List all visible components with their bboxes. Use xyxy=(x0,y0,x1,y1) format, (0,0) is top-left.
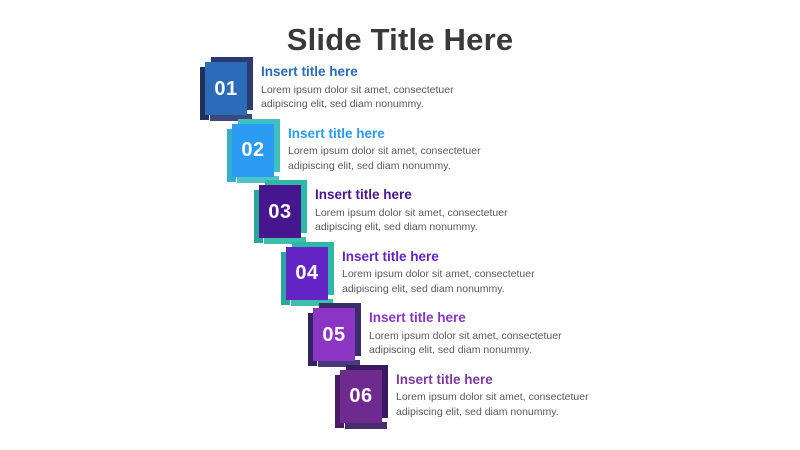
step-number-label: 01 xyxy=(214,79,237,99)
step-title: Insert title here xyxy=(342,249,535,265)
step-number-box-01: 01 xyxy=(205,62,247,115)
step-box-front-face: 03 xyxy=(259,185,301,238)
step-item-02[interactable]: 02Insert title hereLorem ipsum dolor sit… xyxy=(232,124,481,177)
step-number-box-05: 05 xyxy=(313,308,355,361)
step-item-05[interactable]: 05Insert title hereLorem ipsum dolor sit… xyxy=(313,308,562,361)
step-text-block: Insert title hereLorem ipsum dolor sit a… xyxy=(315,185,508,235)
step-body-text: Lorem ipsum dolor sit amet, consectetuer… xyxy=(288,144,481,174)
step-box-front-face: 06 xyxy=(340,370,382,423)
step-number-box-03: 03 xyxy=(259,185,301,238)
step-item-03[interactable]: 03Insert title hereLorem ipsum dolor sit… xyxy=(259,185,508,238)
step-item-06[interactable]: 06Insert title hereLorem ipsum dolor sit… xyxy=(340,370,589,423)
step-number-label: 03 xyxy=(268,202,291,222)
step-body-text: Lorem ipsum dolor sit amet, consectetuer… xyxy=(369,329,562,359)
step-title: Insert title here xyxy=(261,64,454,80)
step-text-block: Insert title hereLorem ipsum dolor sit a… xyxy=(288,124,481,174)
step-body-text: Lorem ipsum dolor sit amet, consectetuer… xyxy=(315,206,508,236)
step-number-label: 02 xyxy=(241,140,264,160)
step-title: Insert title here xyxy=(315,187,508,203)
step-text-block: Insert title hereLorem ipsum dolor sit a… xyxy=(261,62,454,112)
step-title: Insert title here xyxy=(396,372,589,388)
step-title: Insert title here xyxy=(369,310,562,326)
step-body-text: Lorem ipsum dolor sit amet, consectetuer… xyxy=(396,390,589,420)
step-box-bottom-shadow xyxy=(345,422,387,429)
step-number-box-04: 04 xyxy=(286,247,328,300)
step-box-front-face: 02 xyxy=(232,124,274,177)
step-box-front-face: 01 xyxy=(205,62,247,115)
step-number-label: 05 xyxy=(322,325,345,345)
step-body-text: Lorem ipsum dolor sit amet, consectetuer… xyxy=(261,83,454,113)
step-title: Insert title here xyxy=(288,126,481,142)
page-title: Slide Title Here xyxy=(0,22,800,58)
step-text-block: Insert title hereLorem ipsum dolor sit a… xyxy=(369,308,562,358)
step-item-01[interactable]: 01Insert title hereLorem ipsum dolor sit… xyxy=(205,62,454,115)
step-item-04[interactable]: 04Insert title hereLorem ipsum dolor sit… xyxy=(286,247,535,300)
step-text-block: Insert title hereLorem ipsum dolor sit a… xyxy=(396,370,589,420)
step-box-front-face: 04 xyxy=(286,247,328,300)
step-number-label: 04 xyxy=(295,263,318,283)
step-text-block: Insert title hereLorem ipsum dolor sit a… xyxy=(342,247,535,297)
step-number-label: 06 xyxy=(349,386,372,406)
step-body-text: Lorem ipsum dolor sit amet, consectetuer… xyxy=(342,267,535,297)
step-box-front-face: 05 xyxy=(313,308,355,361)
step-number-box-06: 06 xyxy=(340,370,382,423)
slide-canvas: Slide Title Here 01Insert title hereLore… xyxy=(0,0,800,450)
step-number-box-02: 02 xyxy=(232,124,274,177)
